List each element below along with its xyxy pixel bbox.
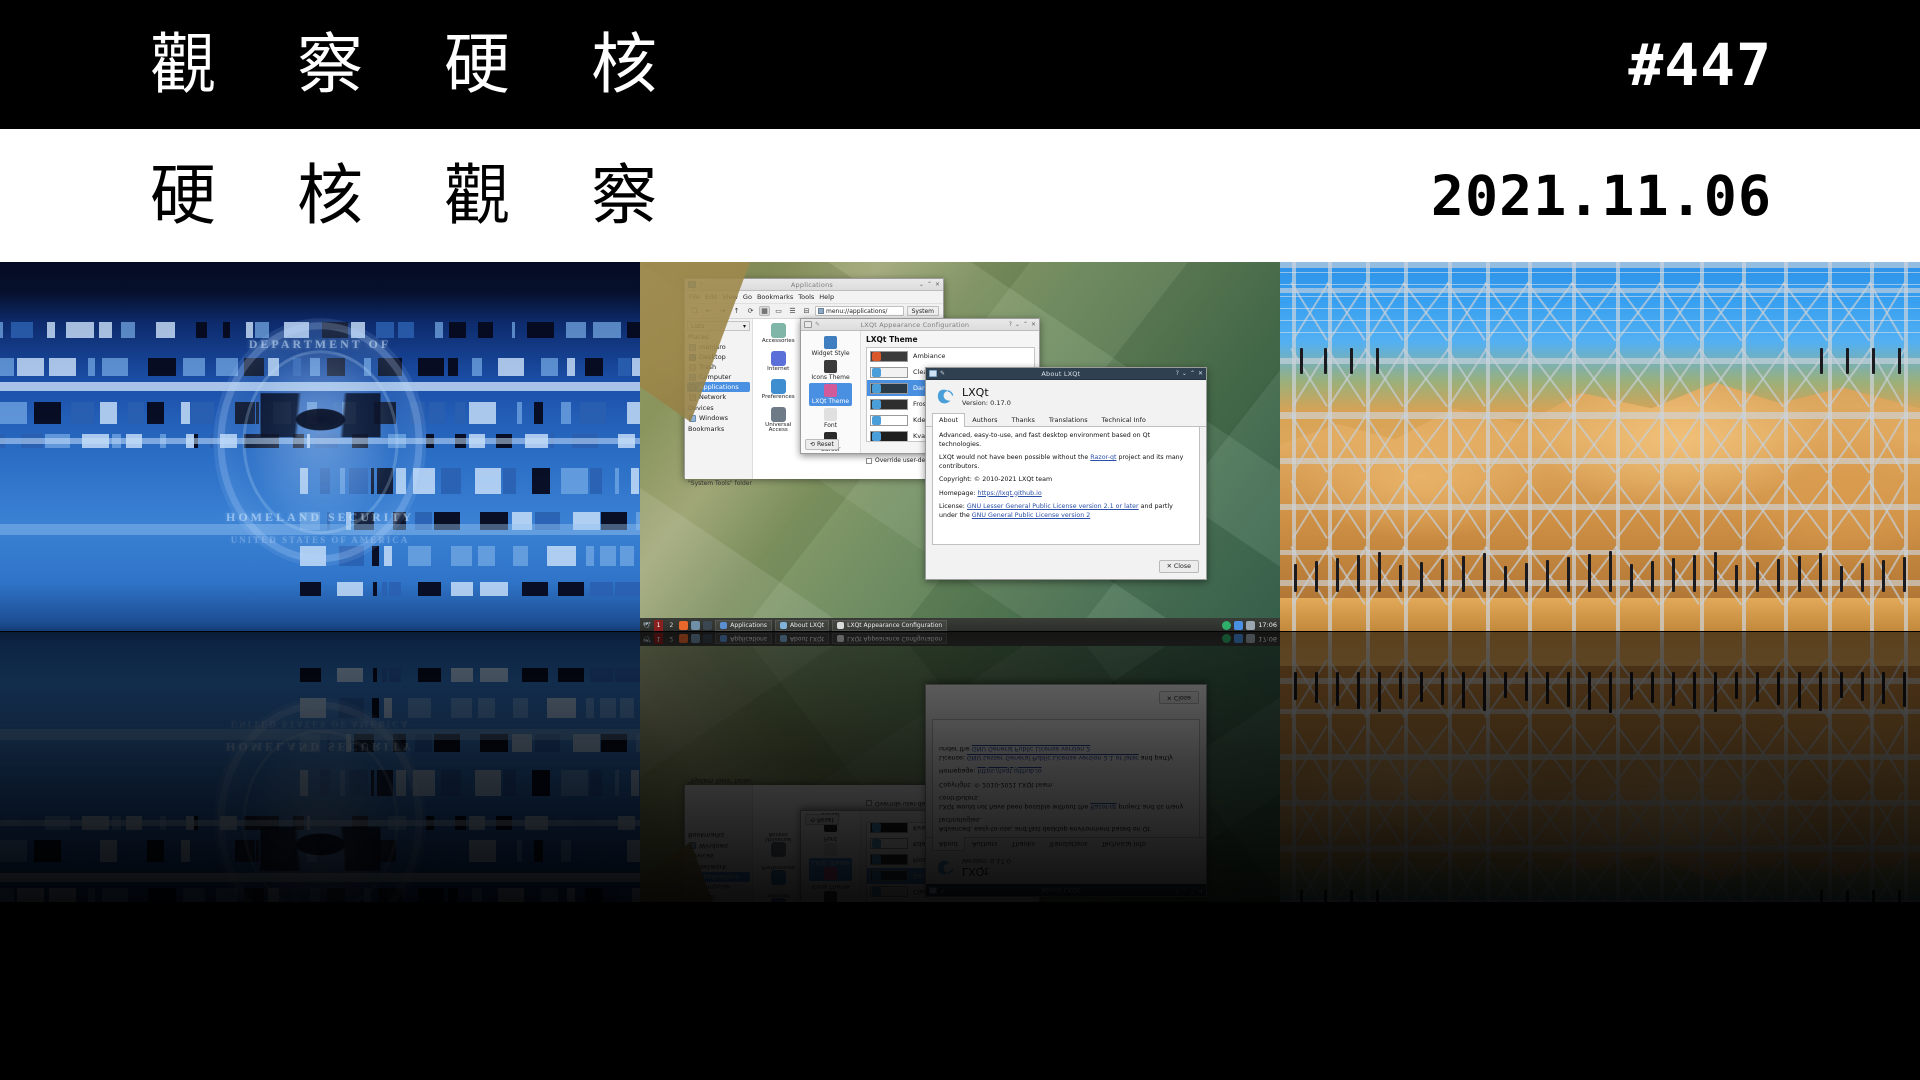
about-tab-thanks[interactable]: Thanks bbox=[1005, 838, 1042, 851]
path-input[interactable]: menu://applications/ bbox=[815, 306, 904, 316]
battery-icon[interactable] bbox=[1222, 621, 1231, 630]
font-icon bbox=[824, 408, 837, 421]
sidebar-group-places: Places bbox=[688, 333, 750, 341]
ac-section-heading: LXQt Theme bbox=[866, 335, 1035, 344]
reset-label: Reset bbox=[817, 816, 834, 823]
fm-statusbar: "System Tools" folder bbox=[685, 480, 752, 487]
fm-toolbar[interactable]: ❐ ← → ↑ ⟳ ▦ ▭ ☰ ⊟ menu://applications/ S… bbox=[685, 304, 943, 319]
lxqt-bird-icon bbox=[934, 856, 956, 878]
back-icon[interactable]: ← bbox=[703, 306, 714, 316]
panel-dhs-glitch: DEPARTMENT OF HOMELAND SECURITY UNITED S… bbox=[0, 632, 640, 902]
fm-titlebar[interactable]: ✎ Applications ⌄⌃✕ bbox=[685, 279, 943, 291]
lxqt-menu-icon[interactable]: 🕊 bbox=[643, 636, 651, 643]
checkbox-icon[interactable] bbox=[866, 801, 872, 807]
filemanager-icon[interactable] bbox=[691, 635, 700, 644]
firefox-icon[interactable] bbox=[679, 635, 688, 644]
theme-preview bbox=[870, 415, 908, 426]
theme-preview bbox=[870, 823, 908, 834]
ac-nav-widget-style[interactable]: Widget Style bbox=[808, 335, 852, 358]
close-icon[interactable]: ✕ bbox=[935, 281, 940, 288]
help-icon[interactable]: ? bbox=[1009, 321, 1012, 328]
image-strip: DEPARTMENT OF HOMELAND SECURITY UNITED S… bbox=[0, 262, 1920, 1080]
ac-nav-lxqt-theme[interactable]: LXQt Theme bbox=[809, 858, 852, 881]
maximize-icon[interactable]: ⌃ bbox=[927, 281, 932, 288]
fm-menubar[interactable]: FileEditViewGoBookmarksToolsHelp bbox=[685, 291, 943, 304]
about-tab-translations[interactable]: Translations bbox=[1042, 413, 1095, 426]
dhs-seal: DEPARTMENT OF HOMELAND SECURITY UNITED S… bbox=[218, 702, 423, 902]
task-about-lxqt[interactable]: About LXQt bbox=[775, 634, 829, 645]
lxqt-bird-icon bbox=[929, 887, 937, 894]
taskbar-clock[interactable]: 17:06 bbox=[1258, 621, 1277, 629]
issue-number: #447 bbox=[1628, 31, 1920, 99]
sidebar-groups[interactable]: Places manjaro Desktop Trash Computer Ap… bbox=[687, 333, 750, 433]
icons-theme-icon bbox=[824, 360, 837, 373]
gpl-link[interactable]: GNU General Public License version 2 bbox=[972, 512, 1090, 519]
theme-preview bbox=[870, 839, 908, 850]
firefox-icon[interactable] bbox=[679, 621, 688, 630]
about-version: Version: 0.17.0 bbox=[962, 399, 1011, 407]
sidebar-group-bookmarks: Bookmarks bbox=[688, 831, 750, 839]
about-copyright: Copyright: © 2010-2021 LXQt team bbox=[939, 780, 1193, 789]
app-cell-preferences[interactable]: Preferences bbox=[755, 863, 802, 885]
lxqt-taskbar[interactable]: 🕊 1 2 Applications About LXQt LXQt Appea… bbox=[640, 618, 1280, 632]
desktop-icon bbox=[689, 354, 696, 361]
dhs-seal: DEPARTMENT OF HOMELAND SECURITY UNITED S… bbox=[218, 322, 423, 562]
panel-power-substation bbox=[1280, 262, 1920, 632]
thumbnail-view-icon[interactable]: ▭ bbox=[773, 306, 784, 316]
theme-row-ambiance[interactable]: Ambiance bbox=[867, 348, 1034, 364]
widget-style-icon bbox=[824, 336, 837, 349]
forward-icon[interactable]: → bbox=[717, 306, 728, 316]
ac-window-buttons[interactable]: ?⌄⌃✕ bbox=[1009, 321, 1036, 328]
minimize-icon[interactable]: ⌄ bbox=[1182, 370, 1187, 377]
about-tab-authors[interactable]: Authors bbox=[965, 413, 1004, 426]
help-icon[interactable]: ? bbox=[1176, 370, 1179, 377]
universal-access-icon bbox=[771, 842, 786, 857]
ac-titlebar[interactable]: ✎ LXQt Appearance Configuration ?⌄⌃✕ bbox=[801, 319, 1039, 331]
fm-menu-go[interactable]: Go bbox=[743, 293, 752, 301]
font-icon bbox=[824, 843, 837, 856]
trash-icon bbox=[689, 894, 696, 901]
manjaro-icon bbox=[689, 344, 696, 351]
about-tabstrip[interactable]: AboutAuthorsThanksTranslationsTechnical … bbox=[926, 837, 1206, 851]
header-band-black: 觀 察 硬 核 #447 bbox=[0, 0, 1920, 129]
close-button[interactable]: ✕ Close bbox=[1159, 560, 1199, 573]
maximize-icon[interactable]: ⌃ bbox=[1190, 887, 1195, 894]
chevron-down-icon: ▾ bbox=[743, 323, 746, 330]
task-appearance-config[interactable]: LXQt Appearance Configuration bbox=[832, 634, 947, 645]
seal-text-top: DEPARTMENT OF bbox=[225, 337, 416, 352]
theme-preview bbox=[870, 887, 908, 898]
seal-text-bottom: HOMELAND SECURITY bbox=[225, 739, 416, 754]
internet-icon bbox=[771, 898, 786, 902]
about-license: License: GNU Lesser General Public Licen… bbox=[939, 503, 1193, 520]
pin-icon[interactable]: ✎ bbox=[815, 321, 821, 328]
app-cell-internet[interactable]: Internet bbox=[755, 351, 802, 373]
compact-view-icon[interactable]: ☰ bbox=[787, 306, 798, 316]
lxqt-theme-icon bbox=[824, 867, 837, 880]
about-window-buttons[interactable]: ?⌄⌃✕ bbox=[1176, 370, 1203, 377]
about-version: Version: 0.17.0 bbox=[962, 857, 1011, 865]
panel-dhs-glitch: DEPARTMENT OF HOMELAND SECURITY UNITED S… bbox=[0, 262, 640, 632]
lxqt-theme-icon bbox=[824, 384, 837, 397]
windows-icon bbox=[689, 415, 696, 422]
sidebar-group-devices: Devices bbox=[688, 852, 750, 860]
app-cell-preferences[interactable]: Preferences bbox=[755, 379, 802, 401]
reflection-copy: DEPARTMENT OF HOMELAND SECURITY UNITED S… bbox=[0, 632, 1920, 902]
volume-icon[interactable] bbox=[1246, 635, 1255, 644]
pin-icon[interactable]: ✎ bbox=[940, 370, 946, 377]
sidebar-item-network[interactable]: Network bbox=[687, 862, 750, 872]
network-icon[interactable] bbox=[1234, 621, 1243, 630]
applications-icon bbox=[689, 874, 696, 881]
about-tab-thanks[interactable]: Thanks bbox=[1005, 413, 1042, 426]
about-app-name: LXQt bbox=[962, 865, 1011, 877]
icon-view-icon[interactable]: ▦ bbox=[759, 306, 770, 316]
ac-title: LXQt Appearance Configuration bbox=[824, 321, 1006, 329]
fm-menu-view[interactable]: View bbox=[722, 293, 737, 301]
app-cell-internet[interactable]: Internet bbox=[755, 891, 802, 902]
sidebar-item-desktop[interactable]: Desktop bbox=[687, 352, 750, 362]
fm-sidebar[interactable]: Lists▾ Places manjaro Desktop Trash Comp… bbox=[685, 785, 753, 902]
preferences-icon bbox=[771, 379, 786, 394]
close-icon[interactable]: ✕ bbox=[1198, 370, 1203, 377]
path-icon bbox=[818, 308, 824, 314]
task-about-lxqt[interactable]: About LXQt bbox=[775, 620, 829, 631]
seal-text-inner: UNITED STATES OF AMERICA bbox=[225, 535, 416, 545]
battery-icon[interactable] bbox=[1222, 635, 1231, 644]
sidebar-group-devices: Devices bbox=[688, 404, 750, 412]
up-icon[interactable]: ↑ bbox=[731, 306, 742, 316]
volume-icon[interactable] bbox=[1246, 621, 1255, 630]
pin-icon[interactable]: ✎ bbox=[699, 281, 705, 288]
about-tab-technical-info[interactable]: Technical Info bbox=[1095, 413, 1153, 426]
about-copyright: Copyright: © 2010-2021 LXQt team bbox=[939, 476, 1193, 485]
about-p2: LXQt would not have been possible withou… bbox=[939, 454, 1193, 471]
filemanager-icon[interactable] bbox=[691, 621, 700, 630]
close-button[interactable]: ✕ Close bbox=[1159, 691, 1199, 704]
windows-icon bbox=[689, 843, 696, 850]
lxqt-menu-icon[interactable]: 🕊 bbox=[643, 622, 651, 629]
close-icon[interactable]: ✕ bbox=[1031, 321, 1036, 328]
task-applications[interactable]: Applications bbox=[715, 634, 772, 645]
about-tab-content: Advanced, easy-to-use, and fast desktop … bbox=[932, 427, 1200, 545]
razor-qt-link[interactable]: Razor-qt bbox=[1090, 454, 1116, 461]
sidebar-item-trash[interactable]: Trash bbox=[687, 892, 750, 902]
task-applications[interactable]: Applications bbox=[715, 620, 772, 631]
desktop-2-button[interactable]: 2 bbox=[666, 620, 676, 631]
computer-icon bbox=[689, 884, 696, 891]
maximize-icon[interactable]: ⌃ bbox=[1190, 370, 1195, 377]
desktop-1-button[interactable]: 1 bbox=[654, 634, 664, 645]
fm-menu-file[interactable]: File bbox=[689, 293, 700, 301]
about-app-name: LXQt bbox=[962, 387, 1011, 399]
ac-nav-font[interactable]: Font bbox=[821, 407, 840, 430]
ac-nav-lxqt-theme[interactable]: LXQt Theme bbox=[809, 383, 852, 406]
about-title: About LXQt bbox=[949, 370, 1173, 378]
fm-menu-bookmarks[interactable]: Bookmarks bbox=[757, 293, 793, 301]
about-tab-authors[interactable]: Authors bbox=[965, 838, 1004, 851]
theme-preview bbox=[870, 399, 908, 410]
new-window-icon[interactable]: ❐ bbox=[689, 306, 700, 316]
network-icon bbox=[689, 864, 696, 871]
homepage-link[interactable]: https://lxqt.github.io bbox=[977, 490, 1041, 497]
reset-button[interactable]: ⟲ Reset bbox=[805, 439, 839, 450]
pin-icon[interactable]: ✎ bbox=[940, 887, 946, 894]
panel-row: DEPARTMENT OF HOMELAND SECURITY UNITED S… bbox=[0, 262, 1920, 632]
about-p1: Advanced, easy-to-use, and fast desktop … bbox=[939, 432, 1193, 449]
path-value: menu://applications/ bbox=[826, 308, 887, 315]
app-cell-universal-access[interactable]: Universal Access bbox=[755, 830, 802, 858]
reset-button[interactable]: ⟲ Reset bbox=[805, 814, 839, 825]
fm-statusbar: "System Tools" folder bbox=[685, 777, 752, 784]
universal-access-icon bbox=[771, 407, 786, 422]
about-title: About LXQt bbox=[949, 887, 1173, 895]
publish-date: 2021.11.06 bbox=[1431, 164, 1920, 228]
about-titlebar[interactable]: ✎ About LXQt ?⌄⌃✕ bbox=[926, 368, 1206, 380]
fm-title: Applications bbox=[708, 281, 916, 289]
desktop-2-button[interactable]: 2 bbox=[666, 634, 676, 645]
theme-preview bbox=[870, 367, 908, 378]
about-header: LXQt Version: 0.17.0 bbox=[926, 854, 1206, 884]
lxqt-bird-icon bbox=[934, 386, 956, 408]
seal-text-bottom: HOMELAND SECURITY bbox=[225, 510, 416, 525]
about-window-buttons[interactable]: ?⌄⌃✕ bbox=[1176, 887, 1203, 894]
eagle-icon bbox=[260, 827, 380, 871]
preferences-icon bbox=[771, 870, 786, 885]
path-chip-system[interactable]: System bbox=[907, 306, 939, 316]
about-tab-translations[interactable]: Translations bbox=[1042, 838, 1095, 851]
panel-lxqt-desktop: ✎ Applications ⌄⌃✕ FileEditViewGoBookmar… bbox=[640, 262, 1280, 632]
about-p2: LXQt would not have been possible withou… bbox=[939, 793, 1193, 810]
panel-lxqt-desktop: ✎ Applications ⌄⌃✕ FileEditViewGoBookmar… bbox=[640, 632, 1280, 902]
desktop-1-button[interactable]: 1 bbox=[654, 620, 664, 631]
sidebar-item-applications[interactable]: Applications bbox=[687, 872, 750, 882]
app-cell-universal-access[interactable]: Universal Access bbox=[755, 407, 802, 435]
about-homepage: Homepage: https://lxqt.github.io bbox=[939, 490, 1193, 499]
about-tab-technical-info[interactable]: Technical Info bbox=[1095, 838, 1153, 851]
checkbox-icon[interactable] bbox=[866, 458, 872, 464]
ac-nav-icons-theme[interactable]: Icons Theme bbox=[808, 882, 852, 902]
eagle-icon bbox=[260, 393, 380, 437]
reload-icon[interactable]: ⟳ bbox=[745, 306, 756, 316]
page-subtitle: 硬 核 觀 察 bbox=[0, 163, 687, 229]
task-appearance-config[interactable]: LXQt Appearance Configuration bbox=[832, 620, 947, 631]
razor-qt-link[interactable]: Razor-qt bbox=[1090, 803, 1116, 810]
detailed-list-icon[interactable]: ⊟ bbox=[801, 306, 812, 316]
sidebar-item-network[interactable]: Network bbox=[687, 392, 750, 402]
reset-label: Reset bbox=[817, 441, 834, 448]
about-tab-about[interactable]: About bbox=[932, 413, 965, 427]
header-band-white: 硬 核 觀 察 2021.11.06 bbox=[0, 129, 1920, 262]
taskbar-clock[interactable]: 17:06 bbox=[1258, 635, 1277, 643]
fm-window-buttons[interactable]: ⌄⌃✕ bbox=[919, 281, 940, 288]
about-tabstrip[interactable]: AboutAuthorsThanksTranslationsTechnical … bbox=[926, 413, 1206, 427]
internet-icon bbox=[771, 351, 786, 366]
about-header: LXQt Version: 0.17.0 bbox=[926, 380, 1206, 410]
computer-icon bbox=[689, 374, 696, 381]
lgpl-link[interactable]: GNU Lesser General Public License versio… bbox=[967, 754, 1139, 761]
app-cell-accessories[interactable]: Accessories bbox=[755, 323, 802, 345]
homepage-link[interactable]: https://lxqt.github.io bbox=[977, 768, 1041, 775]
reset-icon: ⟲ bbox=[810, 816, 815, 823]
theme-preview bbox=[870, 871, 908, 882]
appearance-icon bbox=[804, 321, 812, 328]
help-icon[interactable]: ? bbox=[1176, 887, 1179, 894]
ac-nav-icons-theme[interactable]: Icons Theme bbox=[808, 359, 852, 382]
sidebar-item-computer[interactable]: Computer bbox=[687, 372, 750, 382]
sidebar-item-applications[interactable]: Applications bbox=[687, 382, 750, 392]
applications-icon bbox=[689, 384, 696, 391]
trash-icon bbox=[689, 364, 696, 371]
accessories-icon bbox=[771, 323, 786, 338]
theme-preview bbox=[870, 351, 908, 362]
reflection-area: DEPARTMENT OF HOMELAND SECURITY UNITED S… bbox=[0, 632, 1920, 902]
ac-nav-font[interactable]: Font bbox=[821, 834, 840, 857]
gpl-link[interactable]: GNU General Public License version 2 bbox=[972, 746, 1090, 753]
about-homepage: Homepage: https://lxqt.github.io bbox=[939, 766, 1193, 775]
about-license: License: GNU Lesser General Public Licen… bbox=[939, 744, 1193, 761]
seal-text-inner: UNITED STATES OF AMERICA bbox=[225, 719, 416, 729]
about-p1: Advanced, easy-to-use, and fast desktop … bbox=[939, 815, 1193, 832]
panel-power-substation bbox=[1280, 632, 1920, 902]
terminal-icon[interactable] bbox=[703, 635, 712, 644]
fm-menu-help[interactable]: Help bbox=[819, 293, 834, 301]
sidebar-item-windows[interactable]: Windows bbox=[687, 841, 750, 851]
theme-row-ambiance[interactable]: Ambiance bbox=[867, 900, 1034, 902]
network-icon[interactable] bbox=[1234, 635, 1243, 644]
about-lxqt-dialog[interactable]: ✎ About LXQt ?⌄⌃✕ LXQt Version: 0.17.0 A… bbox=[925, 367, 1207, 580]
lxqt-bird-icon bbox=[929, 370, 937, 377]
about-tab-about[interactable]: About bbox=[932, 837, 965, 851]
fm-menu-tools[interactable]: Tools bbox=[798, 293, 814, 301]
about-lxqt-dialog[interactable]: ✎ About LXQt ?⌄⌃✕ LXQt Version: 0.17.0 A… bbox=[925, 684, 1207, 897]
theme-preview bbox=[870, 383, 908, 394]
icons-theme-icon bbox=[824, 891, 837, 902]
maximize-icon[interactable]: ⌃ bbox=[1023, 321, 1028, 328]
terminal-icon[interactable] bbox=[703, 621, 712, 630]
minimize-icon[interactable]: ⌄ bbox=[1182, 887, 1187, 894]
sidebar-mode-label: Lists bbox=[691, 323, 705, 330]
fm-menu-edit[interactable]: Edit bbox=[705, 293, 718, 301]
sidebar-item-windows[interactable]: Windows bbox=[687, 413, 750, 423]
about-titlebar[interactable]: ✎ About LXQt ?⌄⌃✕ bbox=[926, 884, 1206, 896]
sidebar-groups[interactable]: Places manjaro Desktop Trash Computer Ap… bbox=[687, 831, 750, 902]
page-title-traditional: 觀 察 硬 核 bbox=[0, 32, 687, 98]
sidebar-item-computer[interactable]: Computer bbox=[687, 882, 750, 892]
network-icon bbox=[689, 394, 696, 401]
fm-sidebar[interactable]: Lists▾ Places manjaro Desktop Trash Comp… bbox=[685, 319, 753, 479]
folder-icon bbox=[688, 281, 696, 288]
sidebar-group-bookmarks: Bookmarks bbox=[688, 425, 750, 433]
sidebar-item-manjaro[interactable]: manjaro bbox=[687, 342, 750, 352]
lgpl-link[interactable]: GNU Lesser General Public License versio… bbox=[967, 503, 1139, 510]
sidebar-item-trash[interactable]: Trash bbox=[687, 362, 750, 372]
minimize-icon[interactable]: ⌄ bbox=[1015, 321, 1020, 328]
minimize-icon[interactable]: ⌄ bbox=[919, 281, 924, 288]
about-tab-content: Advanced, easy-to-use, and fast desktop … bbox=[932, 719, 1200, 837]
theme-preview bbox=[870, 431, 908, 442]
reset-icon: ⟲ bbox=[810, 441, 815, 448]
sidebar-mode-combo[interactable]: Lists▾ bbox=[687, 321, 750, 331]
theme-preview bbox=[870, 855, 908, 866]
lxqt-taskbar[interactable]: 🕊 1 2 Applications About LXQt LXQt Appea… bbox=[640, 632, 1280, 646]
ac-nav-list[interactable]: Widget Style Icons Theme LXQt Theme Font… bbox=[801, 331, 861, 453]
close-icon[interactable]: ✕ bbox=[1198, 887, 1203, 894]
